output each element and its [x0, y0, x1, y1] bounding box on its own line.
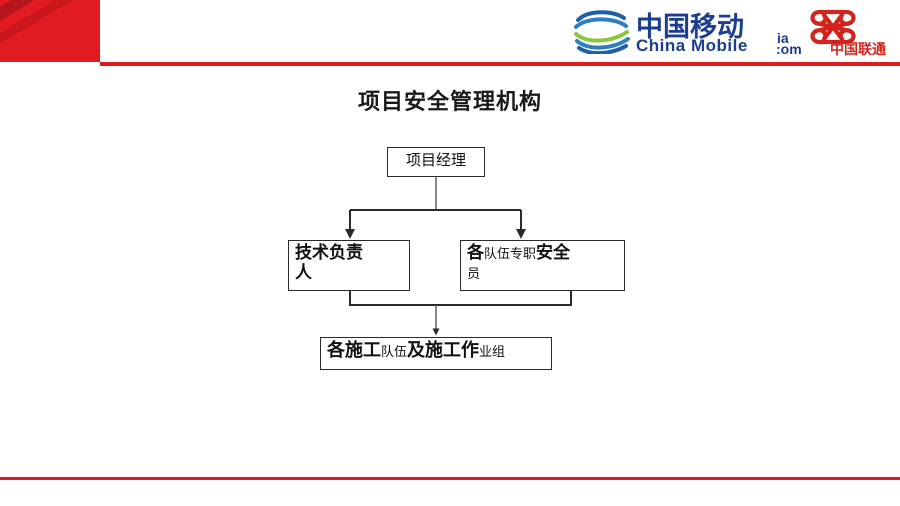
- node-technical-director-label: 技术负责人: [289, 241, 409, 283]
- org-chart: 项目经理 技术负责人 各队伍专职安全员 各施工队伍及施工作业组: [0, 0, 900, 506]
- org-chart-connectors: [0, 0, 900, 506]
- edge-merge-bar: [350, 291, 571, 305]
- slide-canvas: 中国移动 China Mobile ia :om: [0, 0, 900, 506]
- node-project-manager[interactable]: 项目经理: [387, 147, 485, 177]
- node-technical-director[interactable]: 技术负责人: [288, 240, 410, 291]
- node-construction-teams-label: 各施工队伍及施工作业组: [321, 338, 551, 362]
- node-project-manager-label: 项目经理: [388, 148, 484, 169]
- node-team-safety-officer-label: 各队伍专职安全员: [461, 241, 624, 283]
- node-construction-teams[interactable]: 各施工队伍及施工作业组: [320, 337, 552, 370]
- node-team-safety-officer[interactable]: 各队伍专职安全员: [460, 240, 625, 291]
- footer-red-rule: [0, 477, 900, 480]
